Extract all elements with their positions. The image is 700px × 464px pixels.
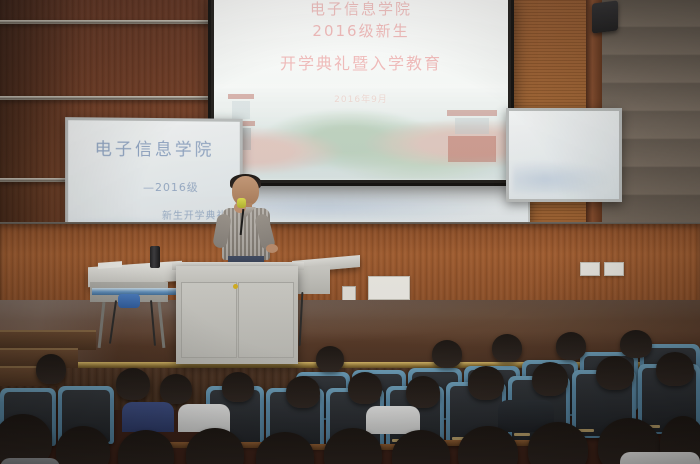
audience-head xyxy=(406,376,440,408)
audience-shoulders xyxy=(178,404,230,432)
audience-head xyxy=(656,352,694,386)
audience-head-foreground xyxy=(118,430,174,464)
whiteboard-center xyxy=(236,180,530,228)
auditorium-photo: 电子信息学院 2016级新生 开学典礼暨入学教育 2016年9月 电子信息学院 … xyxy=(0,0,700,464)
audience-shoulders xyxy=(0,458,60,464)
audience-shoulders xyxy=(620,452,700,464)
microphone-icon xyxy=(237,198,246,208)
blue-chair-secondary xyxy=(118,294,140,308)
loudspeaker-icon xyxy=(592,0,618,33)
audience-head xyxy=(620,330,652,358)
audience-head xyxy=(432,340,462,368)
whiteboard-smudge xyxy=(513,159,619,193)
slide-line-event: 开学典礼暨入学教育 xyxy=(214,50,508,74)
audience-head xyxy=(468,366,504,400)
slide-date: 2016年9月 xyxy=(214,92,508,105)
gate-building-icon xyxy=(446,108,498,164)
audience-head xyxy=(222,372,254,402)
audience-head xyxy=(116,368,150,400)
wall-sign xyxy=(580,262,600,276)
whiteboard-text-college: 电子信息学院 xyxy=(68,134,240,160)
wall-sign xyxy=(368,276,410,300)
audience-head xyxy=(286,376,320,408)
audience-head xyxy=(492,334,522,362)
audience-head xyxy=(596,356,634,390)
audience-shoulders xyxy=(122,402,174,432)
audience-head xyxy=(532,362,568,396)
wall-sign xyxy=(604,262,624,276)
audience-head xyxy=(556,332,586,360)
audience-seating xyxy=(0,330,700,464)
whiteboard-smudge xyxy=(242,186,520,220)
whiteboard-right xyxy=(506,108,622,202)
slide-line-college: 电子信息学院 xyxy=(214,0,508,19)
audience-head xyxy=(160,374,192,404)
projected-slide: 电子信息学院 2016级新生 开学典礼暨入学教育 2016年9月 xyxy=(214,0,508,180)
thermos-cup xyxy=(150,246,160,268)
audience-shoulders xyxy=(366,406,420,434)
audience-head xyxy=(348,372,382,404)
slide-line-class: 2016级新生 xyxy=(214,20,508,41)
audience-head xyxy=(316,346,344,372)
audience-head xyxy=(36,354,66,384)
console-lock-icon xyxy=(233,284,238,289)
presenter xyxy=(214,176,278,272)
projection-screen: 电子信息学院 2016级新生 开学典礼暨入学教育 2016年9月 xyxy=(208,0,514,186)
presenter-right-hand xyxy=(266,244,278,253)
